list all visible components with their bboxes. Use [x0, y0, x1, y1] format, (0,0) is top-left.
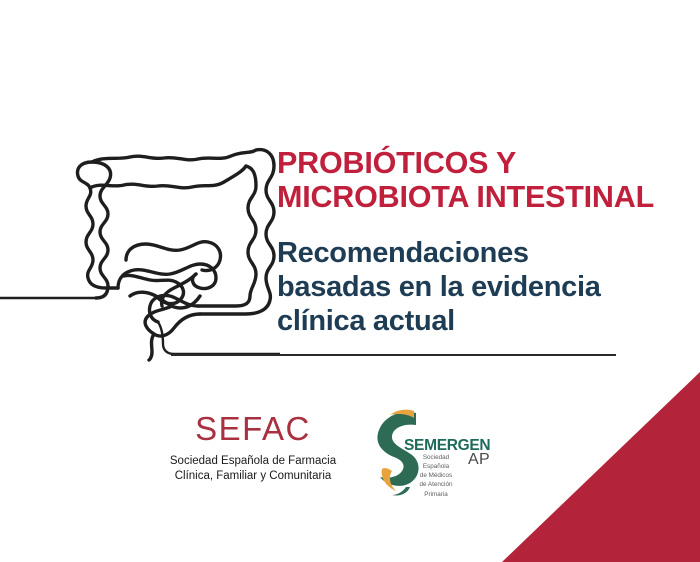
- semergen-tagline: Sociedad Española de Médicos de Atención…: [408, 453, 464, 499]
- sefac-logo: SEFAC Sociedad Española de Farmacia Clín…: [148, 412, 358, 484]
- title-underline-rule: [171, 354, 616, 356]
- semergen-ap-suffix: AP: [468, 452, 490, 468]
- intestine-illustration: [0, 138, 280, 363]
- logo-row: SEFAC Sociedad Española de Farmacia Clín…: [0, 405, 520, 505]
- cover-page: PROBIÓTICOS Y MICROBIOTA INTESTINAL Reco…: [0, 0, 700, 562]
- page-subtitle: Recomendaciones basadas en la evidencia …: [277, 237, 677, 339]
- sefac-tagline: Sociedad Española de Farmacia Clínica, F…: [148, 454, 358, 484]
- title-block: PROBIÓTICOS Y MICROBIOTA INTESTINAL Reco…: [277, 146, 677, 339]
- corner-accent-triangle: [502, 372, 700, 562]
- sefac-wordmark: SEFAC: [148, 412, 358, 445]
- page-title: PROBIÓTICOS Y MICROBIOTA INTESTINAL: [277, 146, 677, 215]
- semergen-logo: SEMERGEN Sociedad Española de Médicos de…: [372, 405, 507, 500]
